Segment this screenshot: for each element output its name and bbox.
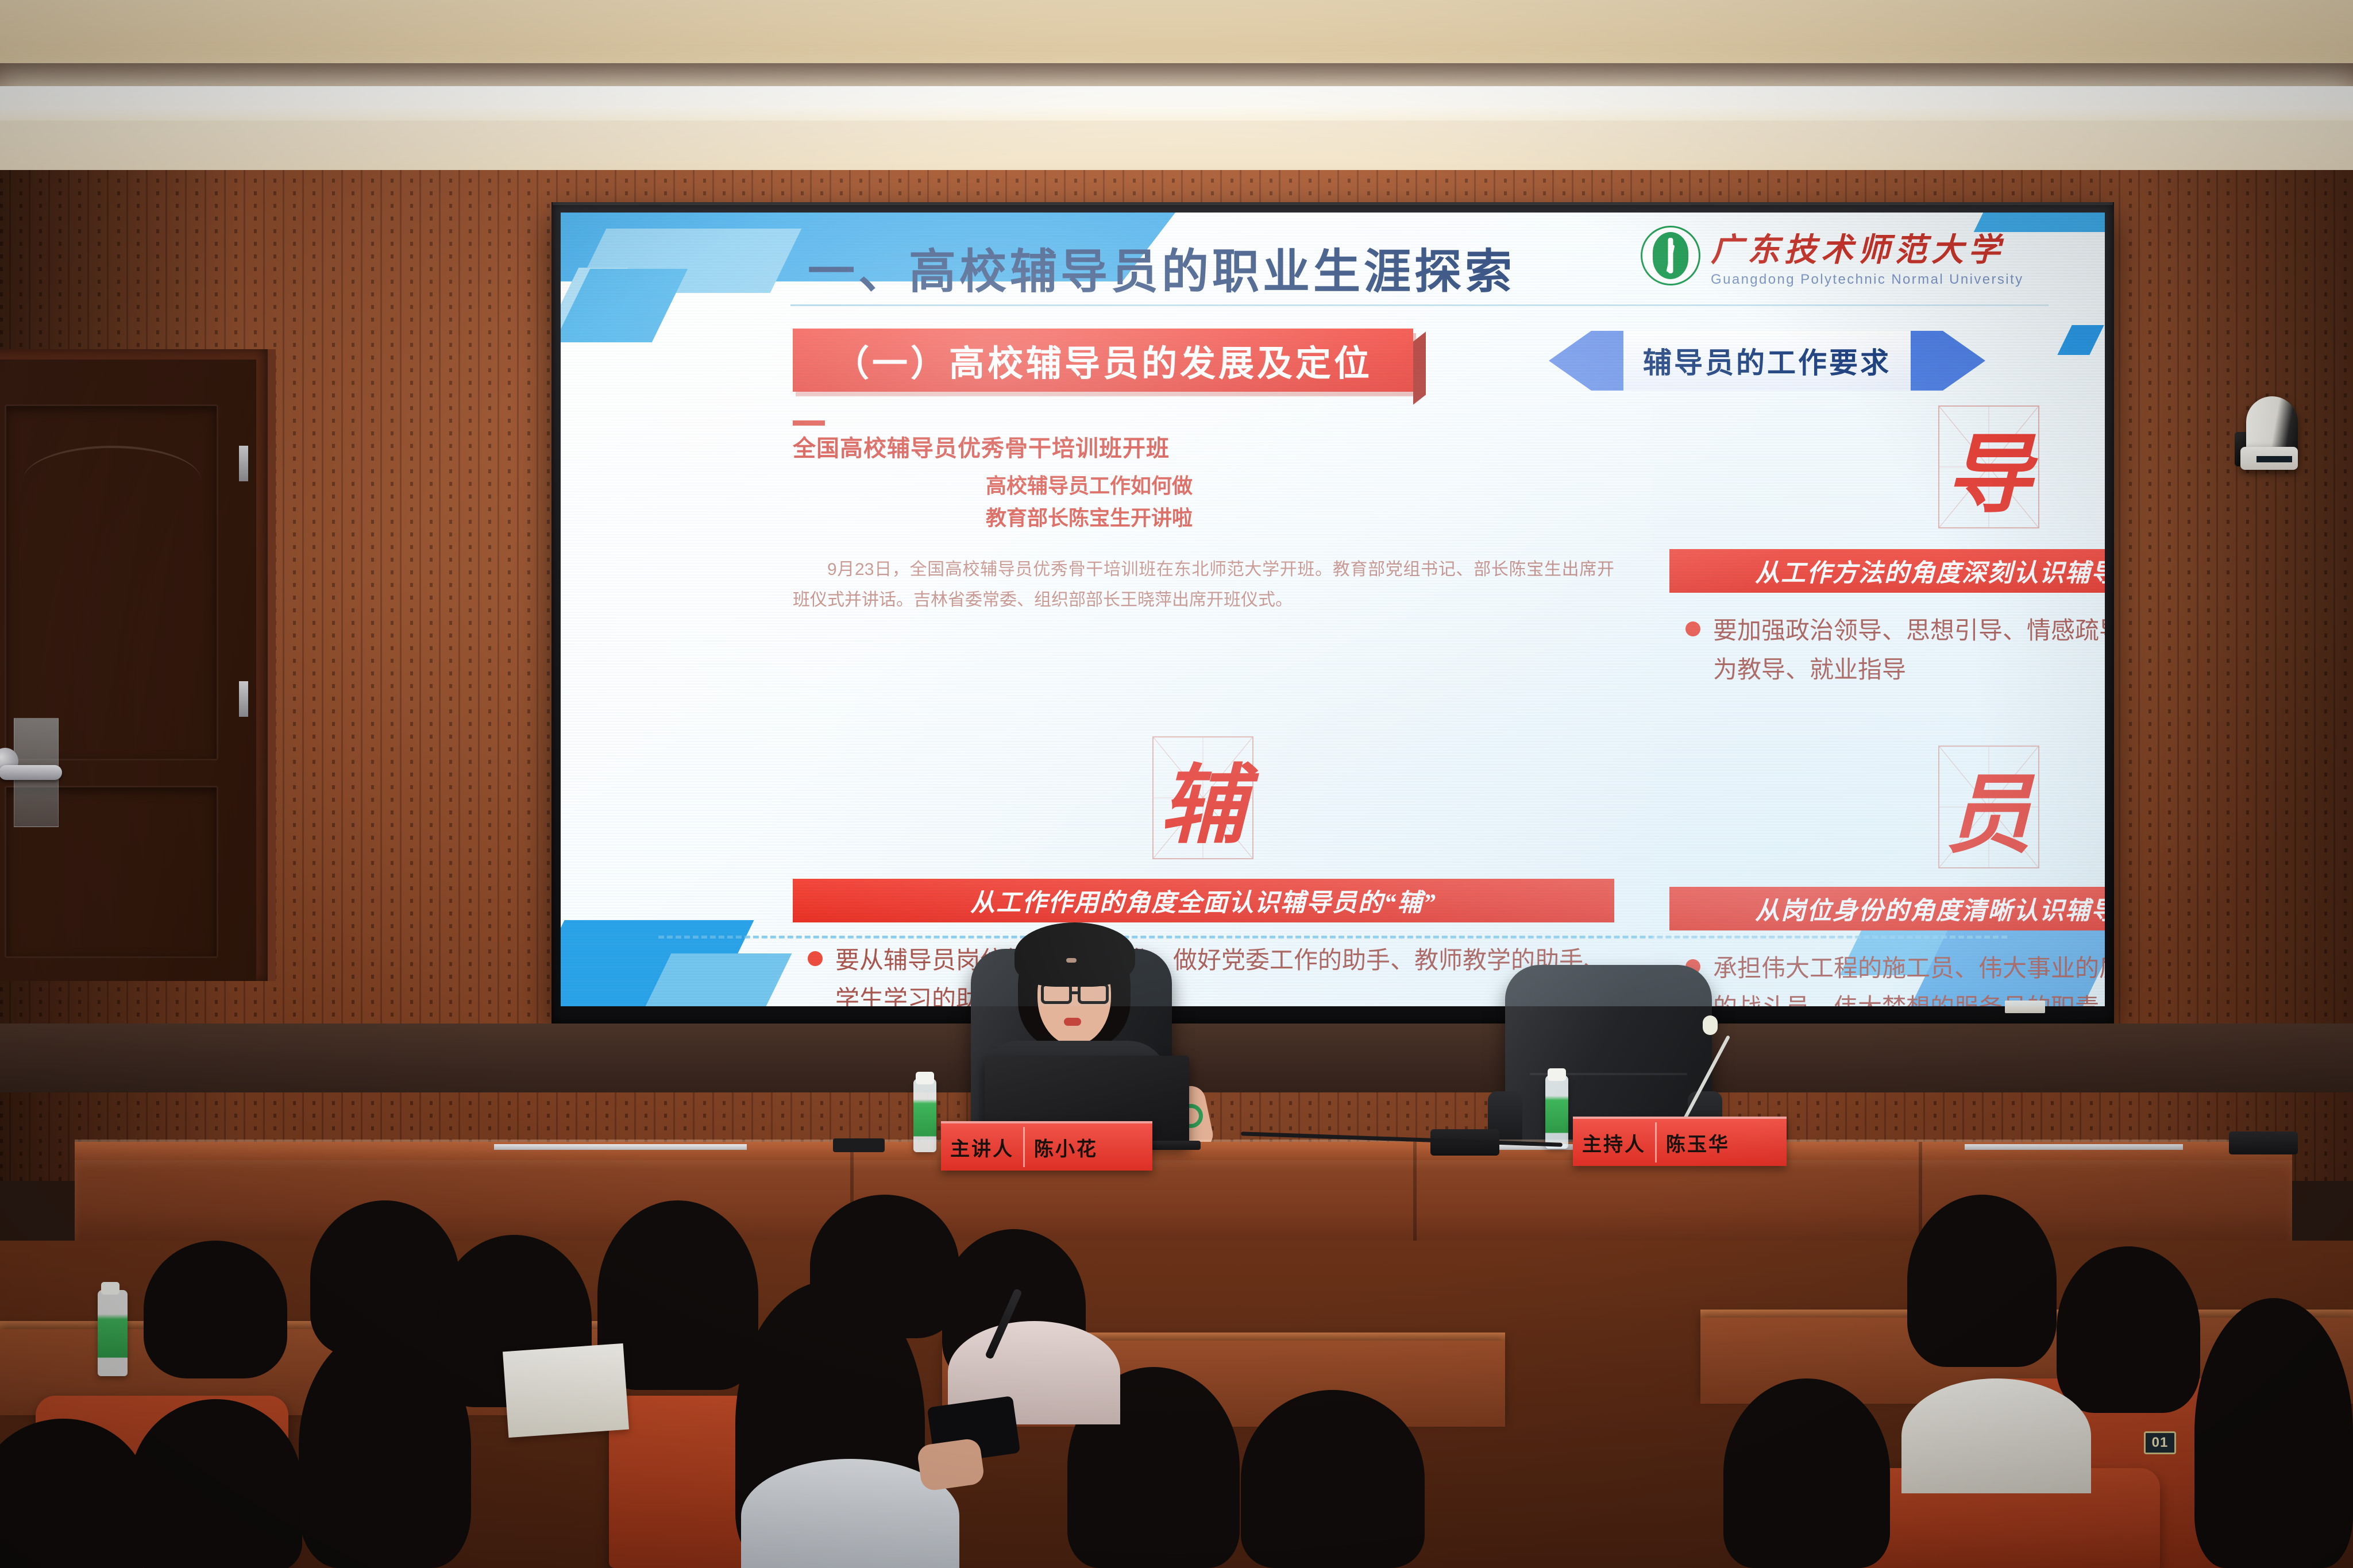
ribbon-yuan-label: 从岗位身份的角度清晰认识辅导员的“员”	[1755, 891, 2105, 926]
bullet-fu-1-text: 要从辅导员岗位的特殊性出发，做好党委工作的助手、教师教学的助手、学生学习的助手	[835, 941, 1612, 1006]
slide-deco-bottom-left-2	[646, 953, 792, 1006]
audience-bottle-1[interactable]	[98, 1290, 128, 1376]
audience-person-14	[1907, 1195, 2057, 1367]
chevron-banner: 辅导员的工作要求	[1549, 331, 1985, 391]
door-hinge-lower-icon	[239, 681, 248, 717]
audience-person-2	[130, 1399, 302, 1568]
glasses-bridge-icon	[1072, 991, 1079, 994]
seat-number-01: 01	[2144, 1431, 2176, 1454]
ribbon-yuan: 从岗位身份的角度清晰认识辅导员的“员”	[1669, 887, 2105, 930]
chevron-right-arrow-icon	[1899, 331, 1985, 391]
news-body: 9月23日，全国高校辅导员优秀骨干培训班在东北师范大学开班。教育部党组书记、部长…	[793, 555, 1614, 616]
bullet-dao-1-text: 要加强政治领导、思想引导、情感疏导、学习辅导、行为教导、就业指导	[1713, 611, 2105, 689]
lecture-hall-photo: 一、高校辅导员的职业生涯探索 广东技术师范大学 Guangdong Polyte…	[0, 0, 2353, 1568]
chevron-banner-center: 辅导员的工作要求	[1623, 331, 1911, 391]
audience-notepad[interactable]	[503, 1343, 629, 1438]
screen-bezel-highlight	[553, 202, 2113, 205]
bottle-cap-icon	[101, 1282, 119, 1295]
glyph-yuan: 员	[1939, 747, 2038, 867]
bullet-yuan-1: 承担伟大工程的施工员、伟大事业的质检员、伟大斗争的战斗员、伟大梦想的服务员的职责	[1685, 949, 2105, 1006]
audience-shoulder-2	[1901, 1378, 2091, 1493]
ribbon-fu: 从工作作用的角度全面认识辅导员的“辅”	[793, 879, 1614, 922]
ribbon-dao-label: 从工作方法的角度深刻认识辅导员的“导”	[1755, 553, 2105, 589]
glyph-box-dao: 导	[1938, 405, 2039, 528]
bullet-dot-icon	[1685, 621, 1700, 636]
slide-title: 一、高校辅导员的职业生涯探索	[808, 233, 1515, 302]
screen-display-area: 一、高校辅导员的职业生涯探索 广东技术师范大学 Guangdong Polyte…	[561, 213, 2105, 1006]
desk-seam-2	[1413, 1142, 1417, 1246]
nameplate-speaker-name: 陈小花	[1025, 1133, 1107, 1161]
university-emblem-icon	[1641, 226, 1700, 285]
bottle-cap-icon	[916, 1072, 934, 1084]
news-headline-line-1: 高校辅导员工作如何做	[986, 470, 1193, 502]
slide-canvas: 一、高校辅导员的职业生涯探索 广东技术师范大学 Guangdong Polyte…	[561, 213, 2105, 1006]
door-hinge-upper-icon	[239, 446, 248, 481]
chevron-banner-label: 辅导员的工作要求	[1643, 340, 1891, 381]
ribbon-dao: 从工作方法的角度深刻认识辅导员的“导”	[1669, 549, 2105, 593]
university-logo: 广东技术师范大学 Guangdong Polytechnic Normal Un…	[1641, 218, 2066, 293]
ptz-camera-icon	[2235, 396, 2298, 471]
audience-hand	[916, 1438, 985, 1492]
news-body-text: 9月23日，全国高校辅导员优秀骨干培训班在东北师范大学开班。教育部党组书记、部长…	[793, 560, 1614, 609]
slide-title-underline	[790, 304, 2049, 306]
audience-person-12	[1241, 1390, 1425, 1568]
audience-person-4	[144, 1241, 287, 1378]
audience-person-13	[1723, 1378, 1890, 1568]
speaker-hair-front	[1015, 922, 1135, 987]
audience-person-16	[2194, 1298, 2353, 1568]
glyph-box-fu: 辅	[1152, 736, 1253, 859]
water-bottle-speaker[interactable]	[913, 1079, 936, 1152]
university-name-en: Guangdong Polytechnic Normal University	[1711, 272, 2023, 288]
slide-deco-top-right-square	[2057, 325, 2104, 355]
nameplate-presider-role: 主持人	[1573, 1129, 1655, 1157]
bullet-dot-icon	[808, 951, 823, 966]
ceiling-light-strip	[0, 86, 2353, 122]
speaker-mouth	[1066, 958, 1077, 963]
bottle-cap-icon	[1548, 1068, 1566, 1081]
news-kicker-bar	[793, 420, 825, 426]
screen-brand-badge	[2005, 1001, 2045, 1013]
ceiling-beam	[0, 63, 2353, 87]
door-handle[interactable]	[0, 765, 62, 780]
camera-body	[2246, 396, 2298, 451]
emblem-tower-icon	[1653, 232, 1688, 279]
water-bottle-presider[interactable]	[1545, 1075, 1568, 1149]
ceiling-upper	[0, 0, 2353, 64]
bullet-dao-1: 要加强政治领导、思想引导、情感疏导、学习辅导、行为教导、就业指导	[1685, 611, 2105, 689]
camera-lens-slot	[2256, 456, 2292, 462]
news-headline-line-2: 教育部长陈宝生开讲啦	[986, 502, 1193, 534]
desk-mic-strip-left	[494, 1144, 747, 1150]
section-banner-label: （一）高校辅导员的发展及定位	[834, 334, 1372, 386]
control-box-right[interactable]	[2229, 1131, 2298, 1154]
nameplate-presider-name: 陈玉华	[1657, 1129, 1739, 1157]
nameplate-speaker: 主讲人 陈小花	[941, 1121, 1152, 1171]
nameplate-presider: 主持人 陈玉华	[1573, 1117, 1787, 1166]
glyph-dao: 导	[1939, 407, 2038, 527]
speaker-lips	[1064, 1018, 1081, 1026]
glyph-box-yuan: 员	[1938, 746, 2039, 868]
chevron-left-arrow-icon	[1549, 331, 1635, 391]
side-door[interactable]	[0, 360, 256, 981]
microphone-head-icon	[1703, 1015, 1718, 1035]
audience-person-15	[2057, 1246, 2200, 1413]
bullet-yuan-1-text: 承担伟大工程的施工员、伟大事业的质检员、伟大斗争的战斗员、伟大梦想的服务员的职责	[1713, 949, 2105, 1006]
glyph-fu: 辅	[1154, 737, 1252, 858]
section-banner: （一）高校辅导员的发展及定位	[793, 329, 1413, 392]
news-kicker: 全国高校辅导员优秀骨干培训班开班	[793, 430, 1170, 463]
nameplate-speaker-role: 主讲人	[941, 1133, 1023, 1161]
desk-mic-strip-far-right	[1965, 1144, 2183, 1150]
phone-on-desk[interactable]	[833, 1138, 885, 1152]
university-name-cn: 广东技术师范大学	[1711, 224, 2023, 271]
ribbon-fu-label: 从工作作用的角度全面认识辅导员的“辅”	[970, 883, 1437, 918]
ceiling-lower	[0, 121, 2353, 173]
presentation-screen[interactable]: 一、高校辅导员的职业生涯探索 广东技术师范大学 Guangdong Polyte…	[551, 202, 2114, 1024]
audience-person-9	[810, 1195, 959, 1338]
news-headline: 高校辅导员工作如何做 教育部长陈宝生开讲啦	[986, 470, 1193, 534]
bullet-fu-1: 要从辅导员岗位的特殊性出发，做好党委工作的助手、教师教学的助手、学生学习的助手	[808, 941, 1612, 1006]
